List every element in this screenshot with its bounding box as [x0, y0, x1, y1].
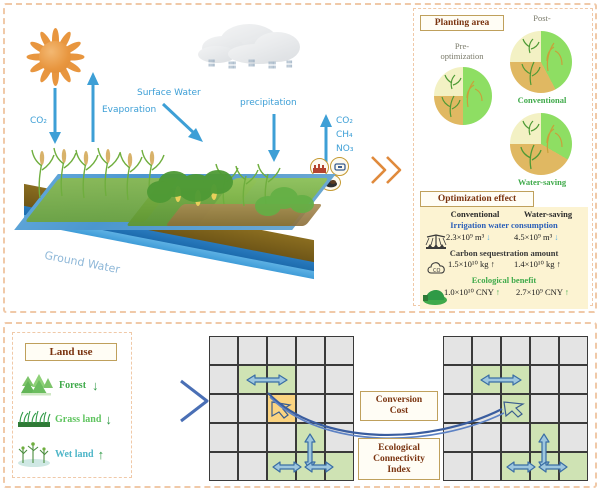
grid-cell[interactable]: [209, 336, 238, 365]
eci-line1: Ecological: [378, 443, 420, 453]
grid-cell[interactable]: [530, 365, 559, 394]
column-header-water-saving: Water-saving: [512, 209, 584, 219]
connectivity-arrow-horizontal: [537, 460, 569, 474]
section-title-ecological: Ecological benefit: [420, 275, 588, 285]
value-carbon-conventional: 1.5×10¹⁰ kg ↑: [448, 259, 495, 270]
eci-line2: Connectivity: [373, 454, 425, 464]
post-optimization-caption: Post-: [518, 13, 566, 23]
eci-line3: Index: [387, 465, 410, 475]
grid-cell[interactable]: [238, 452, 267, 481]
rain-cloud-icon: ¦¦¦¦¦¦¦¦ ¦¦¦¦¦¦¦¦¦ ¦¦¦¦¦¦¦¦ ¦¦¦¦¦¦¦¦¦ ¦¦…: [198, 24, 304, 78]
grid-cell[interactable]: [443, 336, 472, 365]
legend-trend-grass: ↓: [105, 412, 112, 427]
carbon-conventional-text: 1.5×10¹⁰ kg: [448, 259, 489, 269]
landscape-scene: ¦¦¦¦¦¦¦¦ ¦¦¦¦¦¦¦¦¦ ¦¦¦¦¦¦¦¦ ¦¦¦¦¦¦¦¦¦ ¦¦…: [6, 6, 406, 306]
svg-text:CO: CO: [433, 268, 440, 274]
optimization-effect-title: Optimization effect: [420, 191, 534, 207]
irrigation-water-saving-text: 4.5×10⁹ m³: [514, 232, 552, 242]
pie-conventional: [510, 31, 572, 93]
water-saving-caption: Water-saving: [506, 177, 578, 187]
carbon-water-saving-trend: ↑: [557, 259, 561, 269]
grid-cell[interactable]: [443, 452, 472, 481]
wetland-icon: [17, 441, 51, 467]
ecological-conventional-text: 1.0×10¹⁰ CNY: [444, 287, 494, 297]
emission-no3-label: NO₃: [336, 144, 353, 154]
surface-water-label: Surface Water: [137, 88, 201, 98]
ecological-water-saving-text: 2.7×10⁹ CNY: [516, 287, 563, 297]
emission-ch4-label: CH₄: [336, 130, 353, 140]
value-irrigation-conventional: 2.3×10⁹ m³ ↓: [446, 232, 491, 242]
grid-cell[interactable]: [209, 394, 238, 423]
conversion-cost-line2: Cost: [390, 406, 408, 416]
pie-pre-optimization: [434, 67, 492, 125]
double-chevron-icon: [370, 154, 404, 186]
optimization-results-panel: Planting area Pre- optimization Post- Co…: [413, 8, 593, 306]
pre-line1: Pre-: [455, 41, 469, 51]
irrigation-water-saving-trend: ↓: [554, 232, 558, 242]
grid-cell[interactable]: [472, 336, 501, 365]
planting-area-title: Planting area: [420, 15, 504, 31]
grid-cell[interactable]: [209, 423, 238, 452]
grid-cell[interactable]: [209, 452, 238, 481]
pie-water-saving: [510, 113, 572, 175]
optimization-effect-body: Conventional Water-saving Irrigation wat…: [420, 207, 588, 309]
grid-cell[interactable]: [559, 394, 588, 423]
grid-cell[interactable]: [238, 336, 267, 365]
land-use-title: Land use: [25, 343, 117, 361]
grid-cell[interactable]: [472, 452, 501, 481]
ecological-connectivity-index-label: Ecological Connectivity Index: [358, 438, 440, 480]
value-ecological-water-saving: 2.7×10⁹ CNY ↑: [516, 287, 569, 297]
carbon-water-saving-text: 1.4×10¹⁰ kg: [514, 259, 555, 269]
legend-label-wetland: Wet land: [55, 449, 94, 460]
section-title-carbon: Carbon sequestration amount: [420, 248, 588, 258]
carbon-conventional-trend: ↑: [491, 259, 495, 269]
ecological-conventional-trend: ↑: [496, 287, 500, 297]
grid-cell[interactable]: [530, 336, 559, 365]
section-title-irrigation: Irrigation water consumption: [420, 220, 588, 230]
grid-cell[interactable]: [559, 423, 588, 452]
legend-label-forest: Forest: [59, 380, 86, 391]
conversion-cost-line1: Conversion: [376, 395, 422, 405]
legend-row-wetland: Wet land ↑: [17, 441, 104, 467]
pre-optimization-caption: Pre- optimization: [426, 41, 498, 61]
land-use-legend: Land use Forest ↓ Grass land ↓: [12, 332, 132, 478]
grid-cell[interactable]: [501, 336, 530, 365]
evaporation-label: Evaporation: [102, 105, 156, 115]
grid-cell[interactable]: [209, 365, 238, 394]
ecological-water-saving-trend: ↑: [565, 287, 569, 297]
grid-cell[interactable]: [325, 336, 354, 365]
forest-icon: [19, 373, 53, 397]
green-hill-icon: [422, 286, 446, 304]
legend-row-grass: Grass land ↓: [17, 409, 112, 429]
value-carbon-water-saving: 1.4×10¹⁰ kg ↑: [514, 259, 561, 270]
emission-co2-label: CO₂: [336, 116, 353, 126]
grid-cell[interactable]: [559, 336, 588, 365]
legend-trend-wetland: ↑: [98, 447, 105, 462]
value-irrigation-water-saving: 4.5×10⁹ m³ ↓: [514, 232, 559, 242]
connectivity-arrow-horizontal: [505, 460, 537, 474]
legend-trend-forest: ↓: [92, 378, 99, 393]
precipitation-label: precipitation: [240, 98, 297, 108]
connectivity-arrow-horizontal: [271, 460, 303, 474]
grid-cell[interactable]: [296, 336, 325, 365]
grid-cell[interactable]: [267, 336, 296, 365]
co2-label: CO₂: [30, 116, 47, 126]
grass-icon: [17, 409, 51, 429]
column-header-conventional: Conventional: [442, 209, 508, 219]
sun-icon: [30, 32, 80, 82]
grid-cell[interactable]: [559, 365, 588, 394]
grid-cell[interactable]: [530, 394, 559, 423]
conventional-caption: Conventional: [506, 95, 578, 105]
legend-label-grass: Grass land: [55, 414, 101, 425]
conversion-cost-label: Conversion Cost: [360, 391, 438, 421]
irrigation-conventional-trend: ↓: [486, 232, 490, 242]
legend-row-forest: Forest ↓: [19, 373, 99, 397]
chevron-right-icon: [178, 378, 212, 424]
pre-line2: optimization: [441, 51, 484, 61]
connectivity-arrow-horizontal: [303, 460, 335, 474]
irrigation-conventional-text: 2.3×10⁹ m³: [446, 232, 484, 242]
value-ecological-conventional: 1.0×10¹⁰ CNY ↑: [444, 287, 500, 298]
